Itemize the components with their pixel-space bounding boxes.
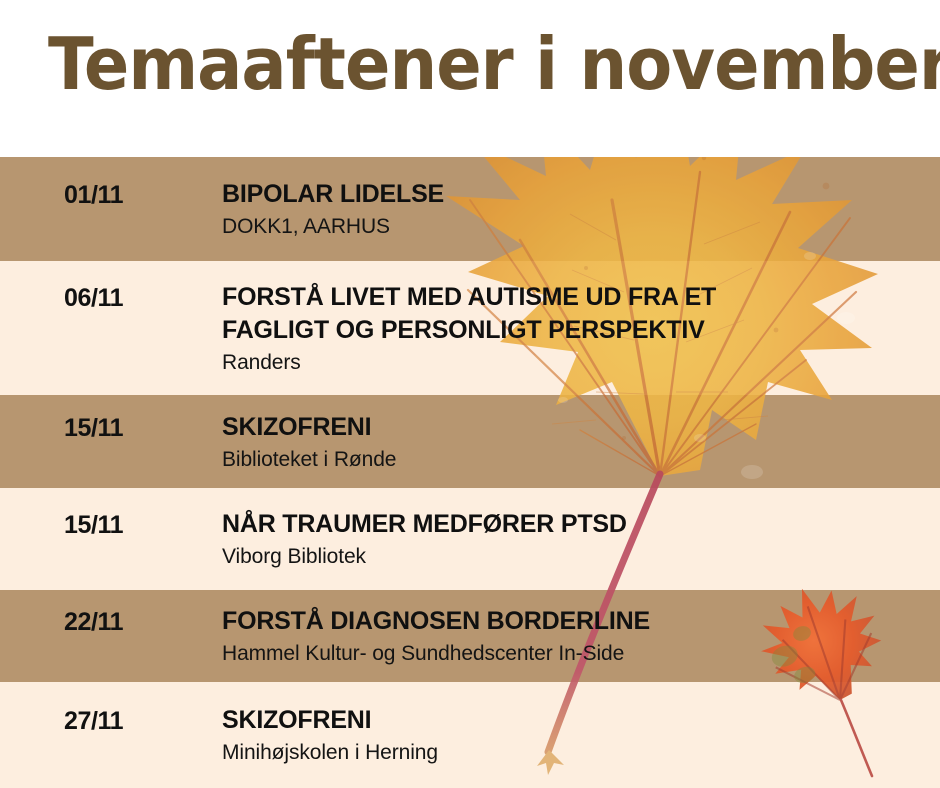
event-title: SKIZOFRENI xyxy=(222,411,930,444)
event-title: NÅR TRAUMER MEDFØRER PTSD xyxy=(222,508,930,541)
event-title: SKIZOFRENI xyxy=(222,704,930,737)
event-venue: Randers xyxy=(222,350,930,376)
event-date: 15/11 xyxy=(64,511,123,540)
event-body: BIPOLAR LIDELSEDOKK1, AARHUS xyxy=(222,178,930,240)
schedule-row[interactable]: 15/11SKIZOFRENIBiblioteket i Rønde xyxy=(0,395,940,488)
event-date: 01/11 xyxy=(64,181,123,210)
event-venue: Hammel Kultur- og Sundhedscenter In-Side xyxy=(222,641,930,667)
event-body: FORSTÅ DIAGNOSEN BORDERLINEHammel Kultur… xyxy=(222,605,930,667)
event-date: 22/11 xyxy=(64,608,123,637)
event-title: FORSTÅ LIVET MED AUTISME UD FRA ET FAGLI… xyxy=(222,281,930,347)
event-date: 06/11 xyxy=(64,284,123,313)
page-title: Temaaftener i november xyxy=(48,28,940,100)
poster-header: Temaaftener i november xyxy=(0,0,940,157)
event-title: FORSTÅ DIAGNOSEN BORDERLINE xyxy=(222,605,930,638)
event-body: NÅR TRAUMER MEDFØRER PTSDViborg Bibliote… xyxy=(222,508,930,570)
event-date: 15/11 xyxy=(64,414,123,443)
schedule-row[interactable]: 27/11SKIZOFRENIMinihøjskolen i Herning xyxy=(0,682,940,788)
poster-canvas: 01/11BIPOLAR LIDELSEDOKK1, AARHUS06/11FO… xyxy=(0,0,940,788)
event-venue: Biblioteket i Rønde xyxy=(222,447,930,473)
event-title: BIPOLAR LIDELSE xyxy=(222,178,930,211)
schedule-row[interactable]: 22/11FORSTÅ DIAGNOSEN BORDERLINEHammel K… xyxy=(0,590,940,682)
event-body: SKIZOFRENIMinihøjskolen i Herning xyxy=(222,704,930,766)
schedule-row[interactable]: 15/11NÅR TRAUMER MEDFØRER PTSDViborg Bib… xyxy=(0,488,940,590)
event-venue: Viborg Bibliotek xyxy=(222,544,930,570)
event-date: 27/11 xyxy=(64,707,123,736)
event-venue: Minihøjskolen i Herning xyxy=(222,740,930,766)
event-venue: DOKK1, AARHUS xyxy=(222,214,930,240)
event-body: FORSTÅ LIVET MED AUTISME UD FRA ET FAGLI… xyxy=(222,281,930,376)
schedule-row[interactable]: 01/11BIPOLAR LIDELSEDOKK1, AARHUS xyxy=(0,157,940,261)
event-body: SKIZOFRENIBiblioteket i Rønde xyxy=(222,411,930,473)
schedule-row[interactable]: 06/11FORSTÅ LIVET MED AUTISME UD FRA ET … xyxy=(0,261,940,395)
